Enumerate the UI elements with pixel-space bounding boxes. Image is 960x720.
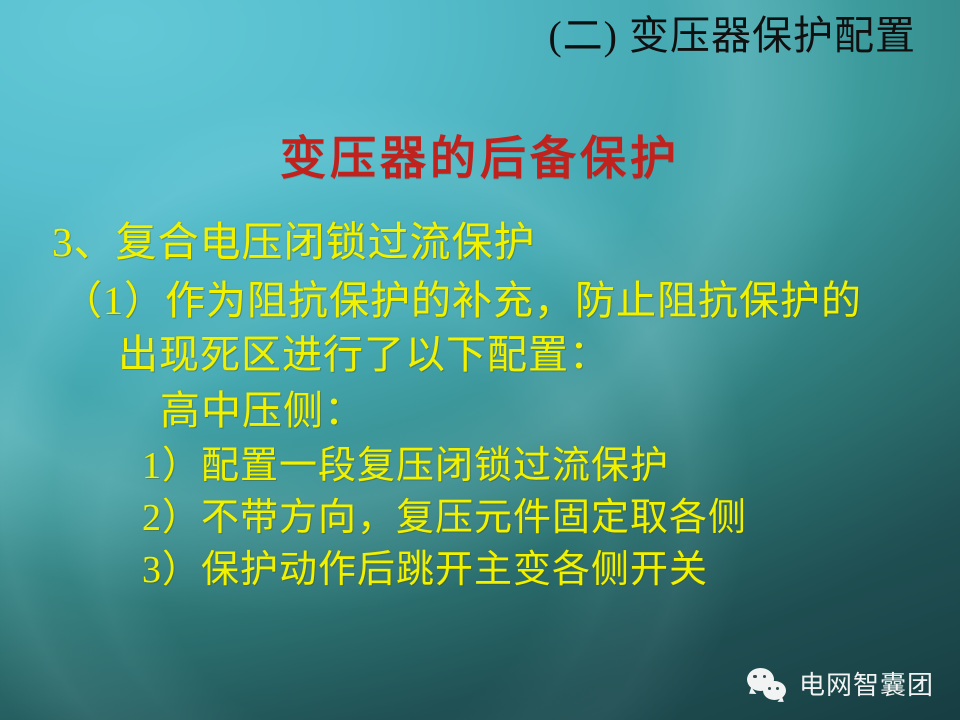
- body-line-4: 高中压侧：: [160, 391, 960, 431]
- watermark-label: 电网智囊团: [799, 672, 934, 698]
- wechat-icon: [747, 668, 789, 702]
- body-line-1: 3、复合电压闭锁过流保护: [52, 222, 960, 263]
- body-line-2: （1）作为阻抗保护的补充，防止阻抗保护的: [62, 281, 960, 321]
- slide-header-title: (二) 变压器保护配置: [548, 14, 916, 57]
- body-line-3: 出现死区进行了以下配置：: [118, 335, 960, 375]
- watermark: 电网智囊团: [747, 668, 934, 702]
- slide-main-title: 变压器的后备保护: [0, 134, 960, 185]
- presentation-slide: (二) 变压器保护配置 变压器的后备保护 3、复合电压闭锁过流保护 （1）作为阻…: [0, 0, 960, 720]
- wechat-bubble-small: [763, 681, 786, 700]
- body-line-7: 3）保护动作后跳开主变各侧开关: [142, 551, 960, 589]
- slide-body: 3、复合电压闭锁过流保护 （1）作为阻抗保护的补充，防止阻抗保护的 出现死区进行…: [0, 222, 960, 589]
- body-line-5: 1）配置一段复压闭锁过流保护: [142, 447, 960, 485]
- body-line-6: 2）不带方向，复压元件固定取各侧: [142, 499, 960, 537]
